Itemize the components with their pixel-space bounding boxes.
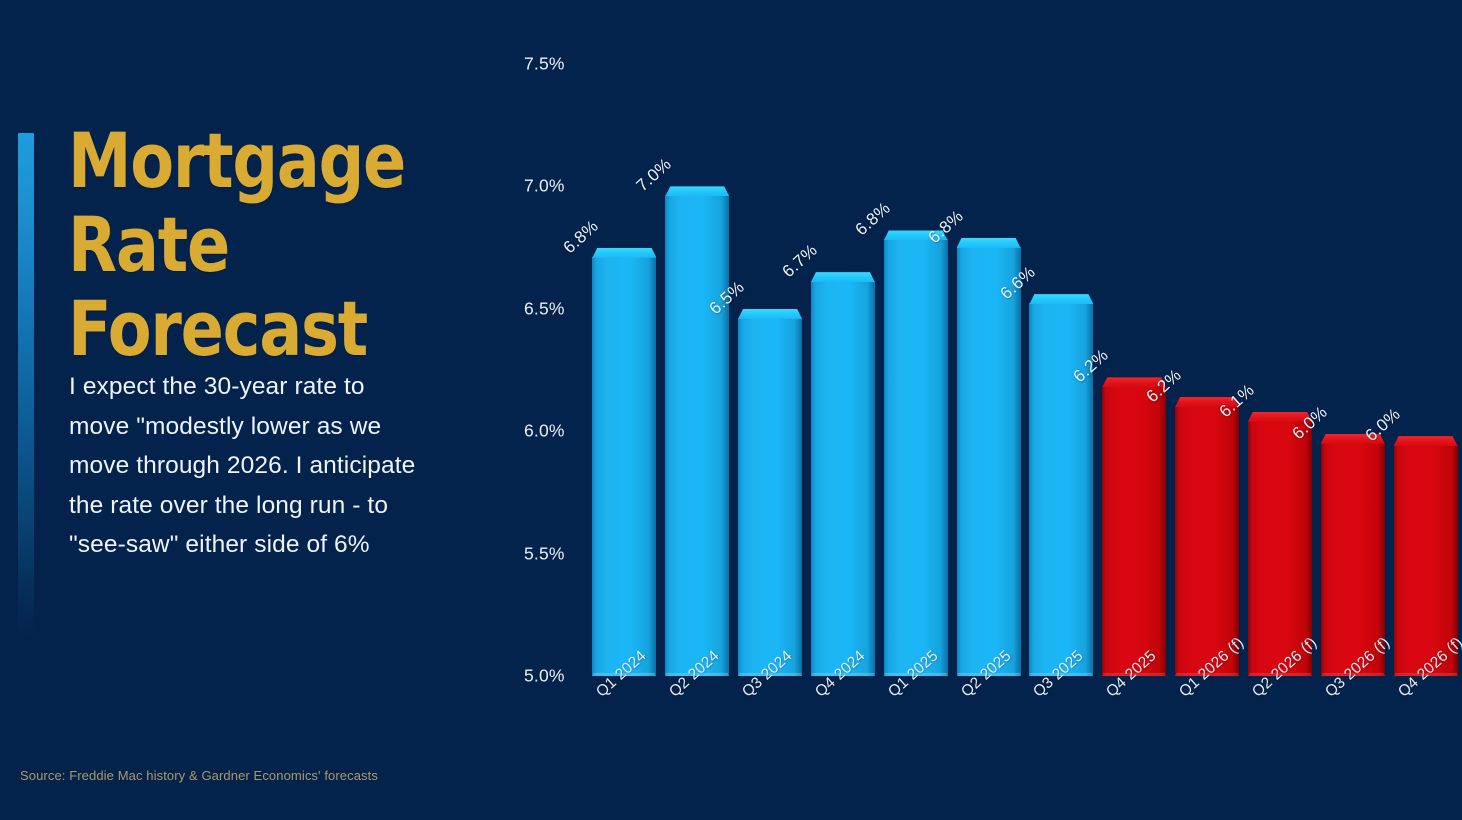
bar-q3-2024[interactable]	[738, 309, 802, 676]
bar-top-cap	[1394, 436, 1458, 446]
bar-top-cap	[811, 272, 875, 282]
bar-shape	[811, 272, 875, 676]
bar-body	[665, 195, 729, 676]
bar-top-cap	[592, 248, 656, 258]
bar-q1-2026-f[interactable]	[1175, 397, 1239, 676]
bar-shape	[738, 309, 802, 676]
bar-top-cap	[665, 186, 729, 196]
source-note: Source: Freddie Mac history & Gardner Ec…	[20, 768, 378, 783]
bar-chart: 7.5%7.0%6.5%6.0%5.5%5.0% Q1 2024Q2 2024Q…	[510, 0, 1462, 820]
y-axis-tick: 6.0%	[524, 421, 588, 442]
bar-q1-2025[interactable]	[884, 230, 948, 676]
bar-body	[592, 257, 656, 676]
bar-shape	[957, 238, 1021, 676]
bar-q2-2024[interactable]	[665, 186, 729, 676]
left-text-panel: Mortgage Rate Forecast I expect the 30-y…	[0, 0, 510, 820]
accent-bar	[18, 133, 34, 636]
slide-canvas: Mortgage Rate Forecast I expect the 30-y…	[0, 0, 1462, 820]
bar-q2-2026-f[interactable]	[1248, 412, 1312, 676]
bar-shape	[1029, 294, 1093, 676]
bar-q4-2025[interactable]	[1102, 377, 1166, 676]
bar-shape	[1102, 377, 1166, 676]
bar-body	[738, 318, 802, 676]
body-paragraph: I expect the 30-year rate to move "modes…	[69, 367, 429, 565]
y-axis-tick: 5.5%	[524, 543, 588, 564]
y-axis-tick: 6.5%	[524, 298, 588, 319]
bar-top-cap	[738, 309, 802, 319]
bar-shape	[884, 230, 948, 676]
bar-body	[884, 239, 948, 676]
bar-q2-2025[interactable]	[957, 238, 1021, 676]
bar-body	[1248, 421, 1312, 676]
bar-body	[811, 281, 875, 676]
bar-shape	[1175, 397, 1239, 676]
page-title: Mortgage Rate Forecast	[68, 119, 429, 371]
bar-shape	[592, 248, 656, 676]
bar-body	[1102, 386, 1166, 676]
bar-shape	[665, 186, 729, 676]
y-axis-tick: 7.5%	[524, 54, 588, 75]
y-axis-tick: 5.0%	[524, 666, 588, 687]
bar-q4-2024[interactable]	[811, 272, 875, 676]
bar-body	[1175, 406, 1239, 676]
bar-q1-2024[interactable]	[592, 248, 656, 676]
bar-top-cap	[1029, 294, 1093, 304]
bar-top-cap	[957, 238, 1021, 248]
bar-body	[957, 247, 1021, 676]
y-axis-tick: 7.0%	[524, 176, 588, 197]
bar-shape	[1248, 412, 1312, 676]
bar-q3-2025[interactable]	[1029, 294, 1093, 676]
